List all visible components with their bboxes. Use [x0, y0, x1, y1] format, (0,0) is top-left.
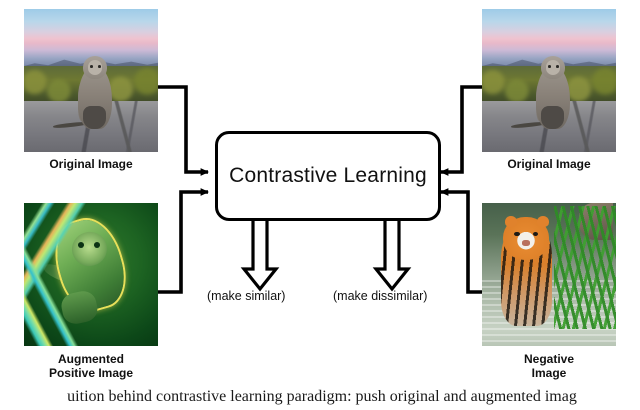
- block-arrow-make-dissimilar: [376, 215, 408, 289]
- contrastive-learning-label: Contrastive Learning: [229, 164, 427, 188]
- wire-negative-to-box: [441, 192, 482, 292]
- wire-original-right-to-box: [441, 87, 482, 172]
- wire-original-left-to-box: [158, 87, 208, 172]
- block-arrow-make-similar: [244, 215, 276, 289]
- label-make-dissimilar: (make dissimilar): [333, 289, 427, 303]
- contrastive-learning-box: Contrastive Learning: [215, 131, 441, 221]
- figure-caption: uition behind contrastive learning parad…: [0, 388, 640, 406]
- wire-augmented-to-box: [158, 192, 208, 292]
- figure-canvas: Original Image Augmented Positive Image: [0, 0, 640, 410]
- label-make-similar: (make similar): [207, 289, 285, 303]
